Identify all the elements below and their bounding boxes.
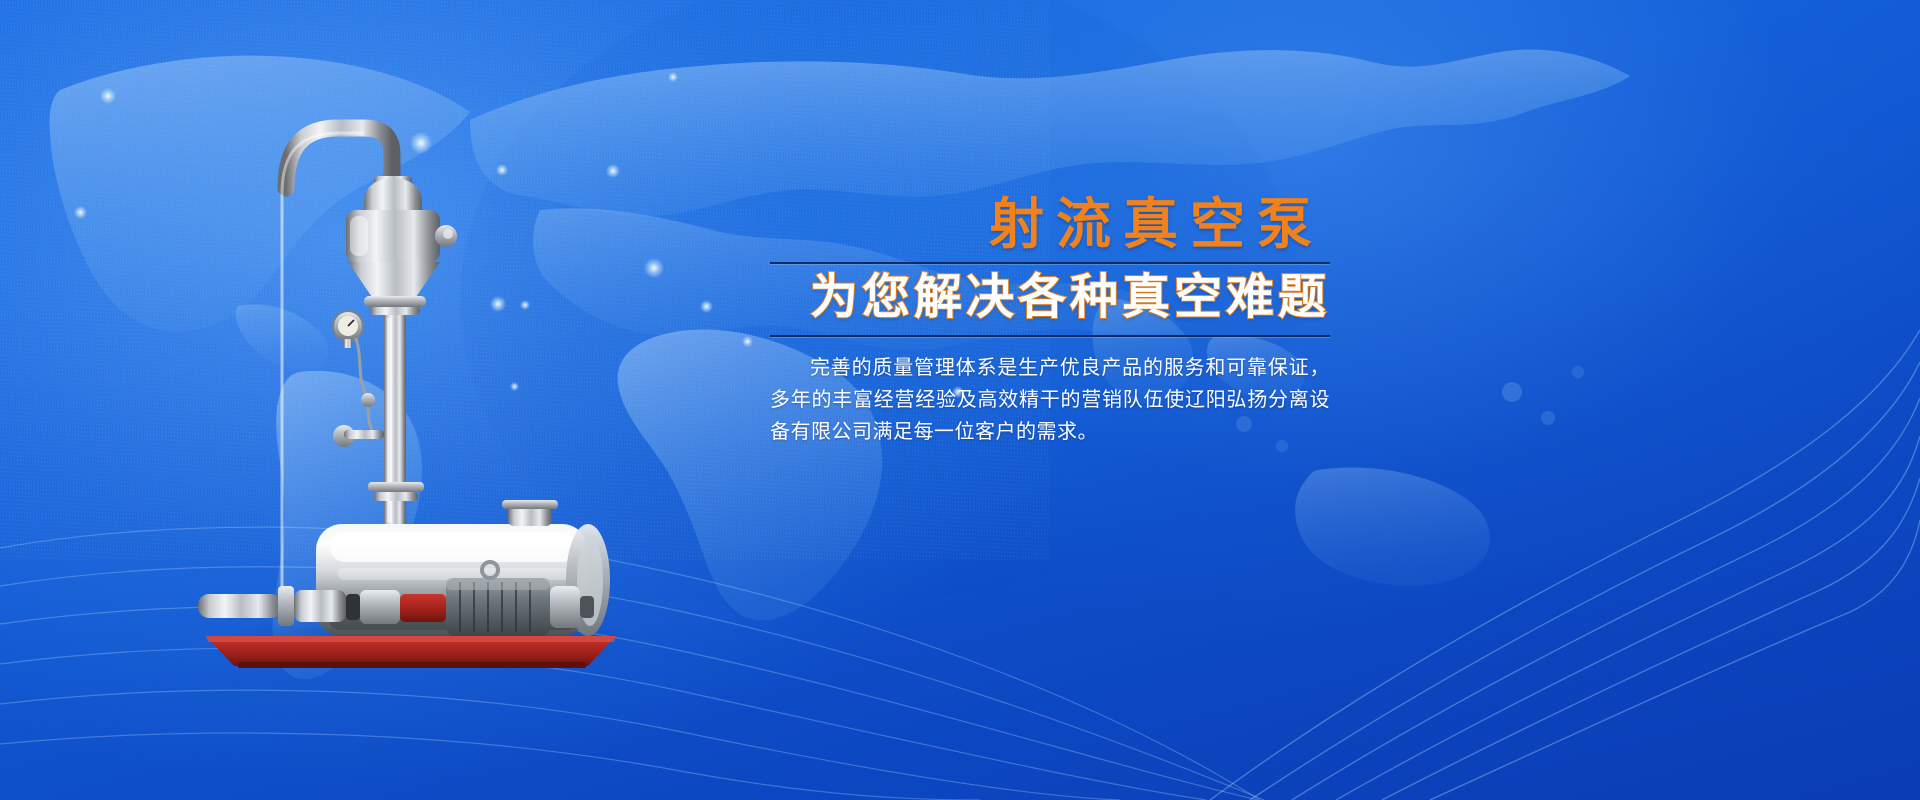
banner-headline: 射流真空泵 — [770, 196, 1330, 254]
banner-copy: 射流真空泵 为您解决各种真空难题 完善的质量管理体系是生产优良产品的服务和可靠保… — [770, 196, 1330, 449]
hero-banner: 射流真空泵 为您解决各种真空难题 完善的质量管理体系是生产优良产品的服务和可靠保… — [0, 0, 1920, 800]
industrial-pump-photo-icon — [178, 38, 648, 668]
subheadline-divider — [770, 335, 1330, 338]
banner-subheadline: 为您解决各种真空难题 — [770, 271, 1330, 325]
banner-paragraph: 完善的质量管理体系是生产优良产品的服务和可靠保证，多年的丰富经营经验及高效精干的… — [770, 352, 1330, 449]
headline-divider — [770, 262, 1330, 265]
